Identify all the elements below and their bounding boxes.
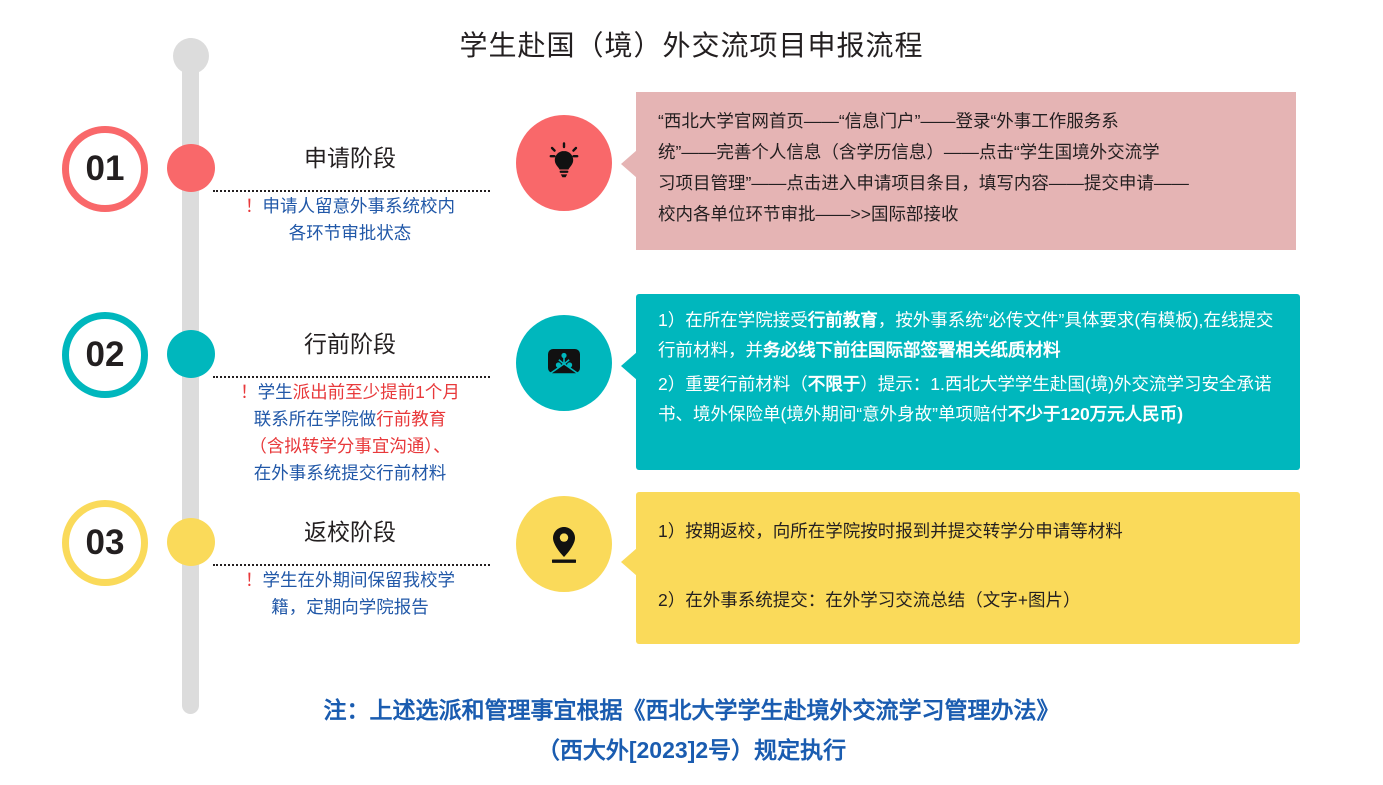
callout-tail-02 [621, 352, 637, 380]
stage-note-03: ！学生在外期间保留我校学 籍，定期向学院报告 [200, 567, 500, 621]
lightbulb-icon [541, 140, 587, 186]
stage-icon-circle-02 [516, 315, 612, 411]
stage-title-02: 行前阶段 [210, 328, 490, 360]
stage-note-02-l1-blue: 学生 [258, 382, 293, 402]
callout-01-line4: 校内各单位环节审批——>>国际部接收 [658, 199, 1270, 230]
stage-note-01-bang: ！ [245, 196, 263, 216]
stage-note-03-bang: ！ [245, 570, 263, 590]
stage-note-02-l2-red: 行前教育 [376, 409, 446, 429]
callout-01-line2: 统”——完善个人信息（含学历信息）——点击“学生国境外交流学 [658, 137, 1270, 168]
share-badge-icon [541, 340, 587, 386]
stage-note-01-line2: 各环节审批状态 [289, 223, 412, 243]
stage-number-03: 03 [62, 500, 148, 586]
callout-box-stage-03: 1）按期返校，向所在学院按时报到并提交转学分申请等材料 2）在外事系统提交：在外… [636, 492, 1300, 644]
stage-title-03: 返校阶段 [210, 516, 490, 548]
stage-note-03-line2: 籍，定期向学院报告 [271, 597, 429, 617]
stage-note-02-bang: ！ [240, 382, 258, 402]
footer-note-line1: 注：上述选派和管理事宜根据《西北大学学生赴境外交流学习管理办法》 [0, 690, 1383, 730]
callout-01-line1: “西北大学官网首页——“信息门户”——登录“外事工作服务系 [658, 106, 1270, 137]
callout-box-stage-02: 1）在所在学院接受行前教育，按外事系统“必传文件”具体要求(有模板),在线提交行… [636, 294, 1300, 470]
footer-note: 注：上述选派和管理事宜根据《西北大学学生赴境外交流学习管理办法》 （西大外[20… [0, 690, 1383, 770]
stage-note-02-l4-blue: 在外事系统提交行前材料 [254, 463, 447, 483]
callout-tail-01 [621, 150, 637, 178]
stage-note-01: ！申请人留意外事系统校内 各环节审批状态 [200, 193, 500, 247]
callout-02-item2-d: 单项赔付 [938, 404, 1008, 424]
callout-03-item2: 2）在外事系统提交：在外学习交流总结（文字+图片） [658, 585, 1274, 616]
stage-icon-circle-03 [516, 496, 612, 592]
timeline-dot-stage-3 [167, 518, 215, 566]
callout-02-item2-e: 不少于120万元人民币 [1008, 404, 1177, 424]
stage-number-02-label: 02 [86, 335, 125, 375]
callout-02-item2: 2）重要行前材料（不限于）提示：1.西北大学学生赴国(境)外交流学习安全承诺书、… [658, 369, 1274, 429]
stage-divider-01 [213, 190, 490, 192]
callout-02-item2-a: 2）重要行前材料（ [658, 374, 808, 394]
callout-02-item1: 1）在所在学院接受行前教育，按外事系统“必传文件”具体要求(有模板),在线提交行… [658, 305, 1274, 365]
stage-note-02-l2-blue: 联系所在学院做 [254, 409, 377, 429]
stage-divider-02 [213, 376, 490, 378]
callout-03-item1: 1）按期返校，向所在学院按时报到并提交转学分申请等材料 [658, 516, 1274, 547]
stage-note-02: ！学生派出前至少提前1个月 联系所在学院做行前教育 （含拟转学分事宜沟通）、 在… [200, 379, 500, 487]
stage-number-02: 02 [62, 312, 148, 398]
stage-number-01-label: 01 [86, 149, 125, 189]
stage-note-03-line1: 学生在外期间保留我校学 [263, 570, 456, 590]
stage-note-02-l1-red: 派出前至少提前1个月 [293, 382, 460, 402]
callout-tail-03 [621, 548, 637, 576]
timeline-dot-stage-1 [167, 144, 215, 192]
footer-note-line2: （西大外[2023]2号）规定执行 [0, 730, 1383, 770]
stage-number-01: 01 [62, 126, 148, 212]
callout-02-item2-f: ) [1177, 404, 1183, 424]
stage-divider-03 [213, 564, 490, 566]
location-pin-icon [542, 521, 586, 567]
stage-icon-circle-01 [516, 115, 612, 211]
stage-title-01: 申请阶段 [210, 142, 490, 174]
stage-note-02-l3-red: （含拟转学分事宜沟通）、 [249, 436, 450, 456]
callout-01-line3: 习项目管理”——点击进入申请项目条目，填写内容——提交申请—— [658, 168, 1270, 199]
timeline-dot-stage-2 [167, 330, 215, 378]
callout-02-item1-d: 务必线下前往国际部签署相关纸质材料 [763, 340, 1061, 360]
stage-note-01-line1: 申请人留意外事系统校内 [263, 196, 456, 216]
callout-02-item2-b: 不限于 [808, 374, 861, 394]
callout-02-item1-a: 1）在所在学院接受 [658, 310, 808, 330]
stage-number-03-label: 03 [86, 523, 125, 563]
callout-box-stage-01: “西北大学官网首页——“信息门户”——登录“外事工作服务系 统”——完善个人信息… [636, 92, 1296, 250]
callout-02-item1-b: 行前教育 [808, 310, 878, 330]
